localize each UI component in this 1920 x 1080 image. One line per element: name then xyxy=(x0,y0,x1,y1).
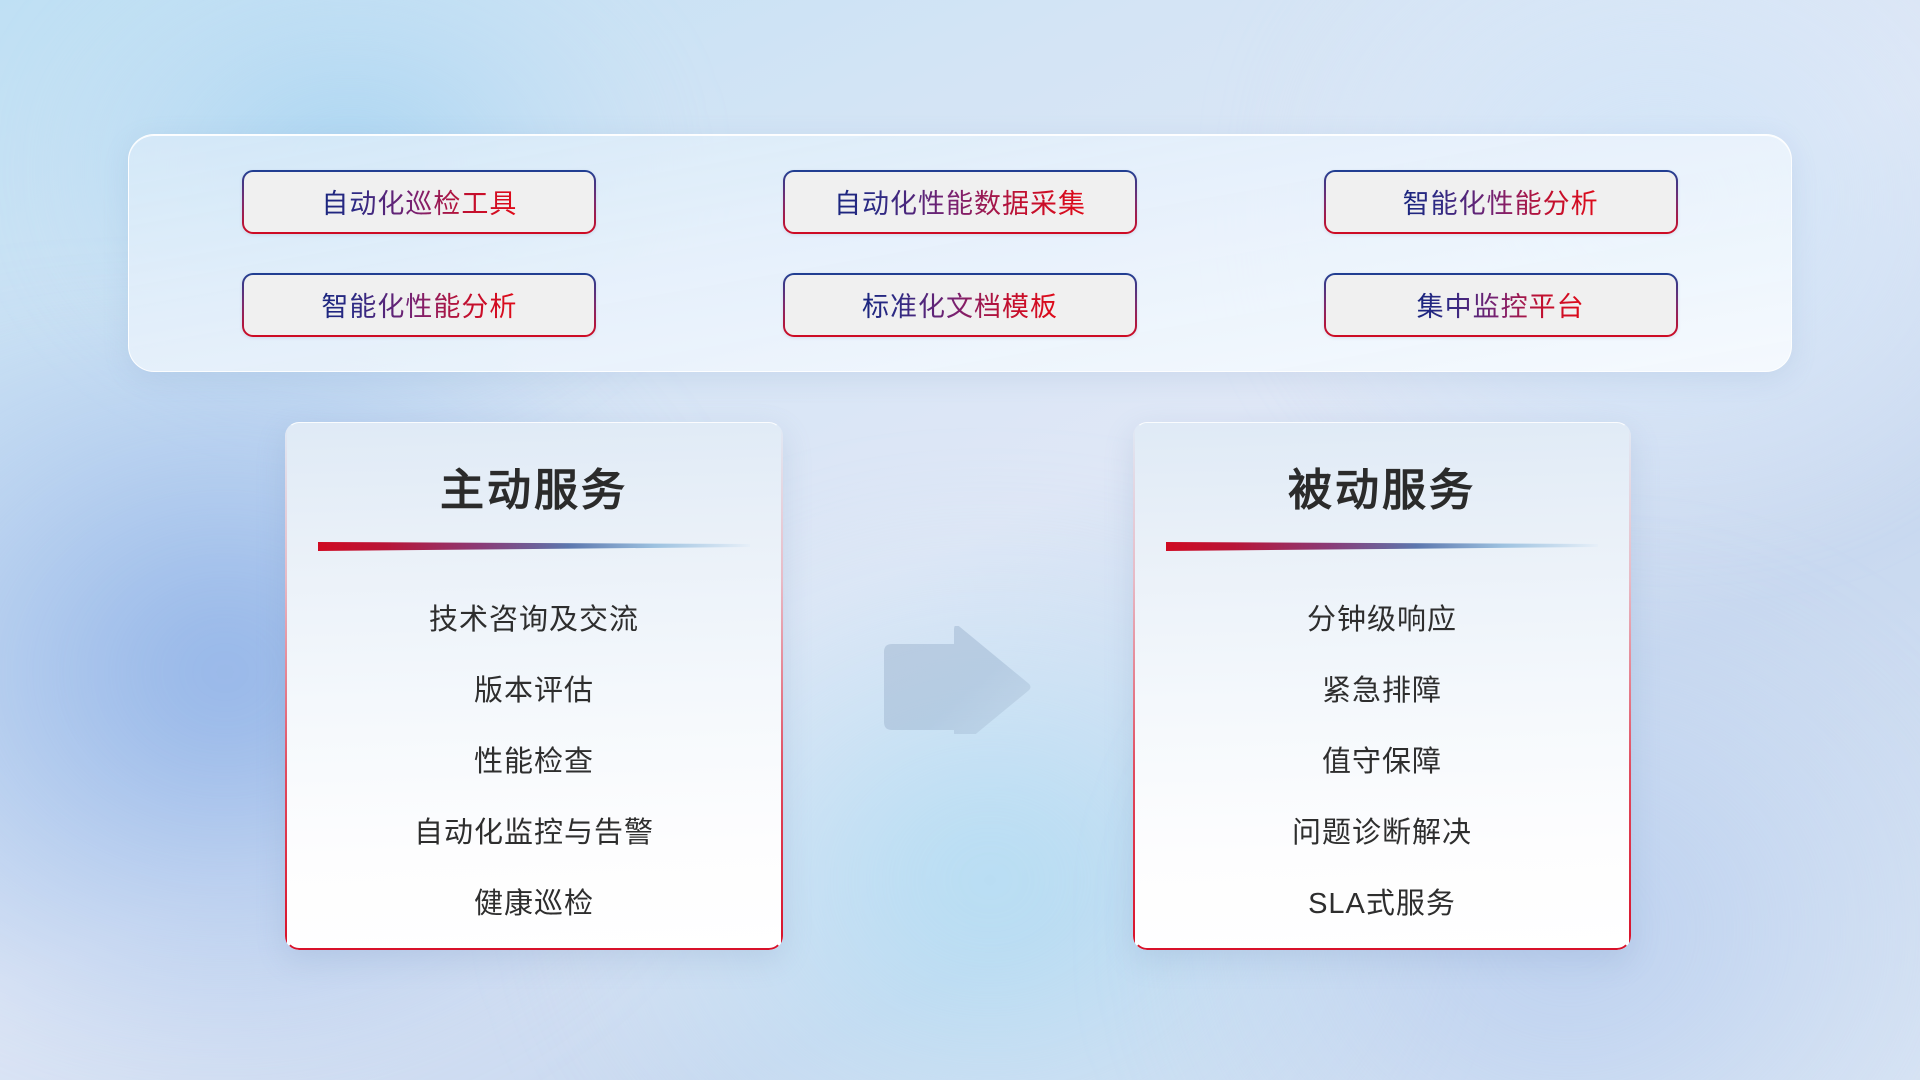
list-item: 值守保障 xyxy=(1322,727,1442,798)
capability-tag-surface: 智能化性能分析 xyxy=(1326,172,1676,232)
card-title: 主动服务 xyxy=(285,422,783,518)
card-divider xyxy=(318,542,750,551)
service-card-proactive[interactable]: 主动服务 技术咨询及交流 版本评估 性能检查 自动化监控与告警 健康巡检 xyxy=(285,422,783,950)
capability-tag-auto-inspection-tool[interactable]: 自动化巡检工具 xyxy=(242,170,596,234)
capability-tag-label: 自动化巡检工具 xyxy=(321,182,517,221)
list-item: 自动化监控与告警 xyxy=(414,798,654,869)
capability-tag-intelligent-perf-analysis-2[interactable]: 智能化性能分析 xyxy=(242,273,596,337)
card-divider xyxy=(1166,542,1598,551)
capability-tag-label: 标准化文档模板 xyxy=(862,285,1058,324)
right-arrow-icon xyxy=(876,626,1036,734)
card-divider-gradient xyxy=(1166,542,1598,551)
card-item-list: 分钟级响应 紧急排障 值守保障 问题诊断解决 SLA式服务 xyxy=(1133,585,1631,940)
capability-tag-surface: 标准化文档模板 xyxy=(785,275,1135,335)
capability-tag-surface: 集中监控平台 xyxy=(1326,275,1676,335)
capability-tag-surface: 智能化性能分析 xyxy=(244,275,594,335)
capability-tag-central-monitoring-platform[interactable]: 集中监控平台 xyxy=(1324,273,1678,337)
capability-tag-label: 智能化性能分析 xyxy=(1403,182,1599,221)
card-title: 被动服务 xyxy=(1133,422,1631,518)
capability-tags-panel: 自动化巡检工具 自动化性能数据采集 智能化性能分析 智能化性能分析 标准化文档模… xyxy=(128,134,1792,372)
capability-tag-label: 集中监控平台 xyxy=(1417,285,1585,324)
list-item: 性能检查 xyxy=(474,727,594,798)
list-item: 问题诊断解决 xyxy=(1292,798,1472,869)
list-item: 技术咨询及交流 xyxy=(429,585,639,656)
list-item: 健康巡检 xyxy=(474,869,594,940)
capability-tag-auto-perf-data-collection[interactable]: 自动化性能数据采集 xyxy=(783,170,1137,234)
capability-tag-label: 自动化性能数据采集 xyxy=(834,182,1086,221)
list-item: SLA式服务 xyxy=(1308,869,1456,940)
capability-tag-surface: 自动化性能数据采集 xyxy=(785,172,1135,232)
list-item: 分钟级响应 xyxy=(1307,585,1457,656)
card-item-list: 技术咨询及交流 版本评估 性能检查 自动化监控与告警 健康巡检 xyxy=(285,585,783,940)
capability-tag-label: 智能化性能分析 xyxy=(321,285,517,324)
capability-tag-intelligent-perf-analysis-1[interactable]: 智能化性能分析 xyxy=(1324,170,1678,234)
list-item: 紧急排障 xyxy=(1322,656,1442,727)
list-item: 版本评估 xyxy=(474,656,594,727)
capability-tag-surface: 自动化巡检工具 xyxy=(244,172,594,232)
service-card-reactive[interactable]: 被动服务 分钟级响应 紧急排障 值守保障 问题诊断解决 SLA式服务 xyxy=(1133,422,1631,950)
card-divider-gradient xyxy=(318,542,750,551)
capability-tag-standard-doc-template[interactable]: 标准化文档模板 xyxy=(783,273,1137,337)
